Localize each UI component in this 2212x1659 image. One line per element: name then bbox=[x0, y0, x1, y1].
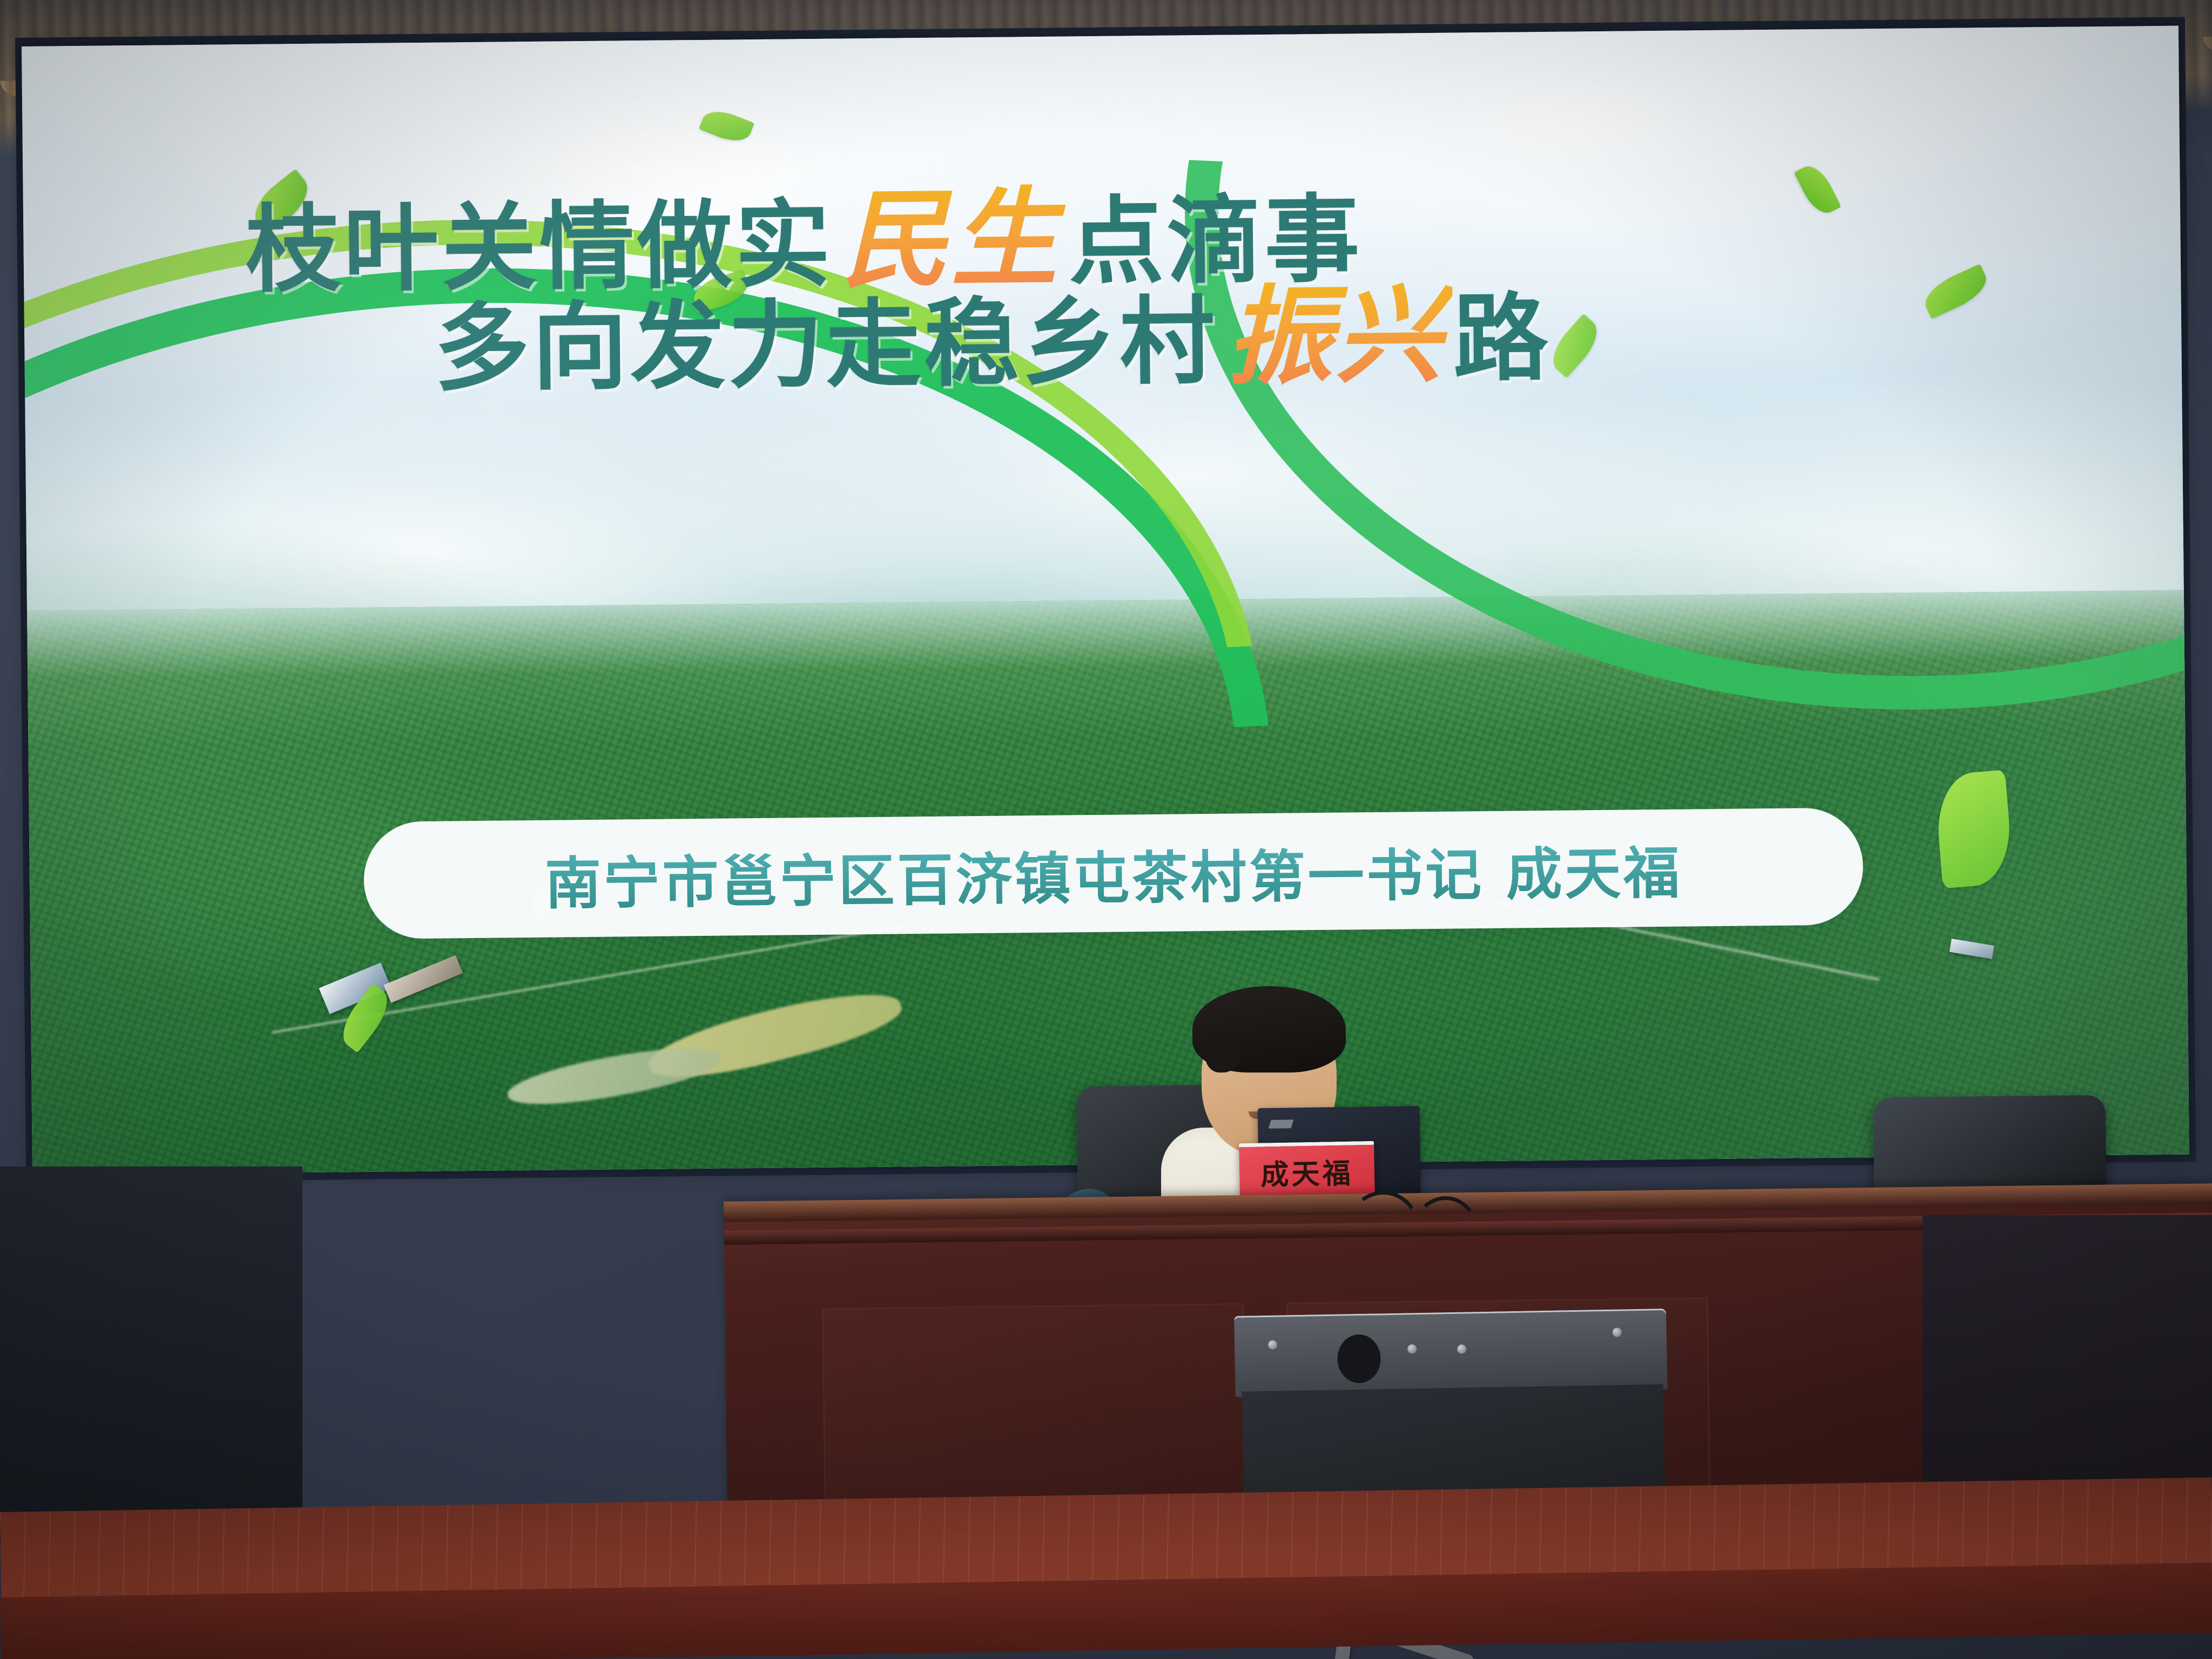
speaker-hair bbox=[1192, 986, 1346, 1073]
monitor-speaker-handle-hole bbox=[1337, 1334, 1381, 1383]
speaker-caption-text: 南宁市邕宁区百济镇屯茶村第一书记 成天福 bbox=[544, 827, 1682, 920]
village-field bbox=[504, 1037, 724, 1116]
monitor-speaker-screw bbox=[1613, 1328, 1622, 1337]
laptop-logo bbox=[1269, 1120, 1294, 1129]
led-presentation-screen: 枝叶关情做实民生点滴事 多向发力走稳乡村振兴路 南宁市邕宁区百济镇屯茶村第一书记… bbox=[22, 26, 2189, 1175]
desk-nameplate: 成天福 bbox=[1239, 1141, 1375, 1198]
monitor-speaker-screw bbox=[1407, 1344, 1417, 1353]
monitor-speaker-screw bbox=[1268, 1340, 1277, 1350]
desk-nameplate-text: 成天福 bbox=[1260, 1151, 1354, 1193]
monitor-speaker-screw bbox=[1457, 1345, 1466, 1354]
speaker-caption-pill: 南宁市邕宁区百济镇屯茶村第一书记 成天福 bbox=[363, 807, 1864, 939]
monitor-speaker-top bbox=[1234, 1309, 1667, 1397]
village-building bbox=[383, 955, 462, 1003]
stage-left-wall bbox=[0, 1166, 302, 1545]
auditorium-scene: 枝叶关情做实民生点滴事 多向发力走稳乡村振兴路 南宁市邕宁区百济镇屯茶村第一书记… bbox=[0, 0, 2212, 1659]
village-building bbox=[1949, 939, 1994, 959]
